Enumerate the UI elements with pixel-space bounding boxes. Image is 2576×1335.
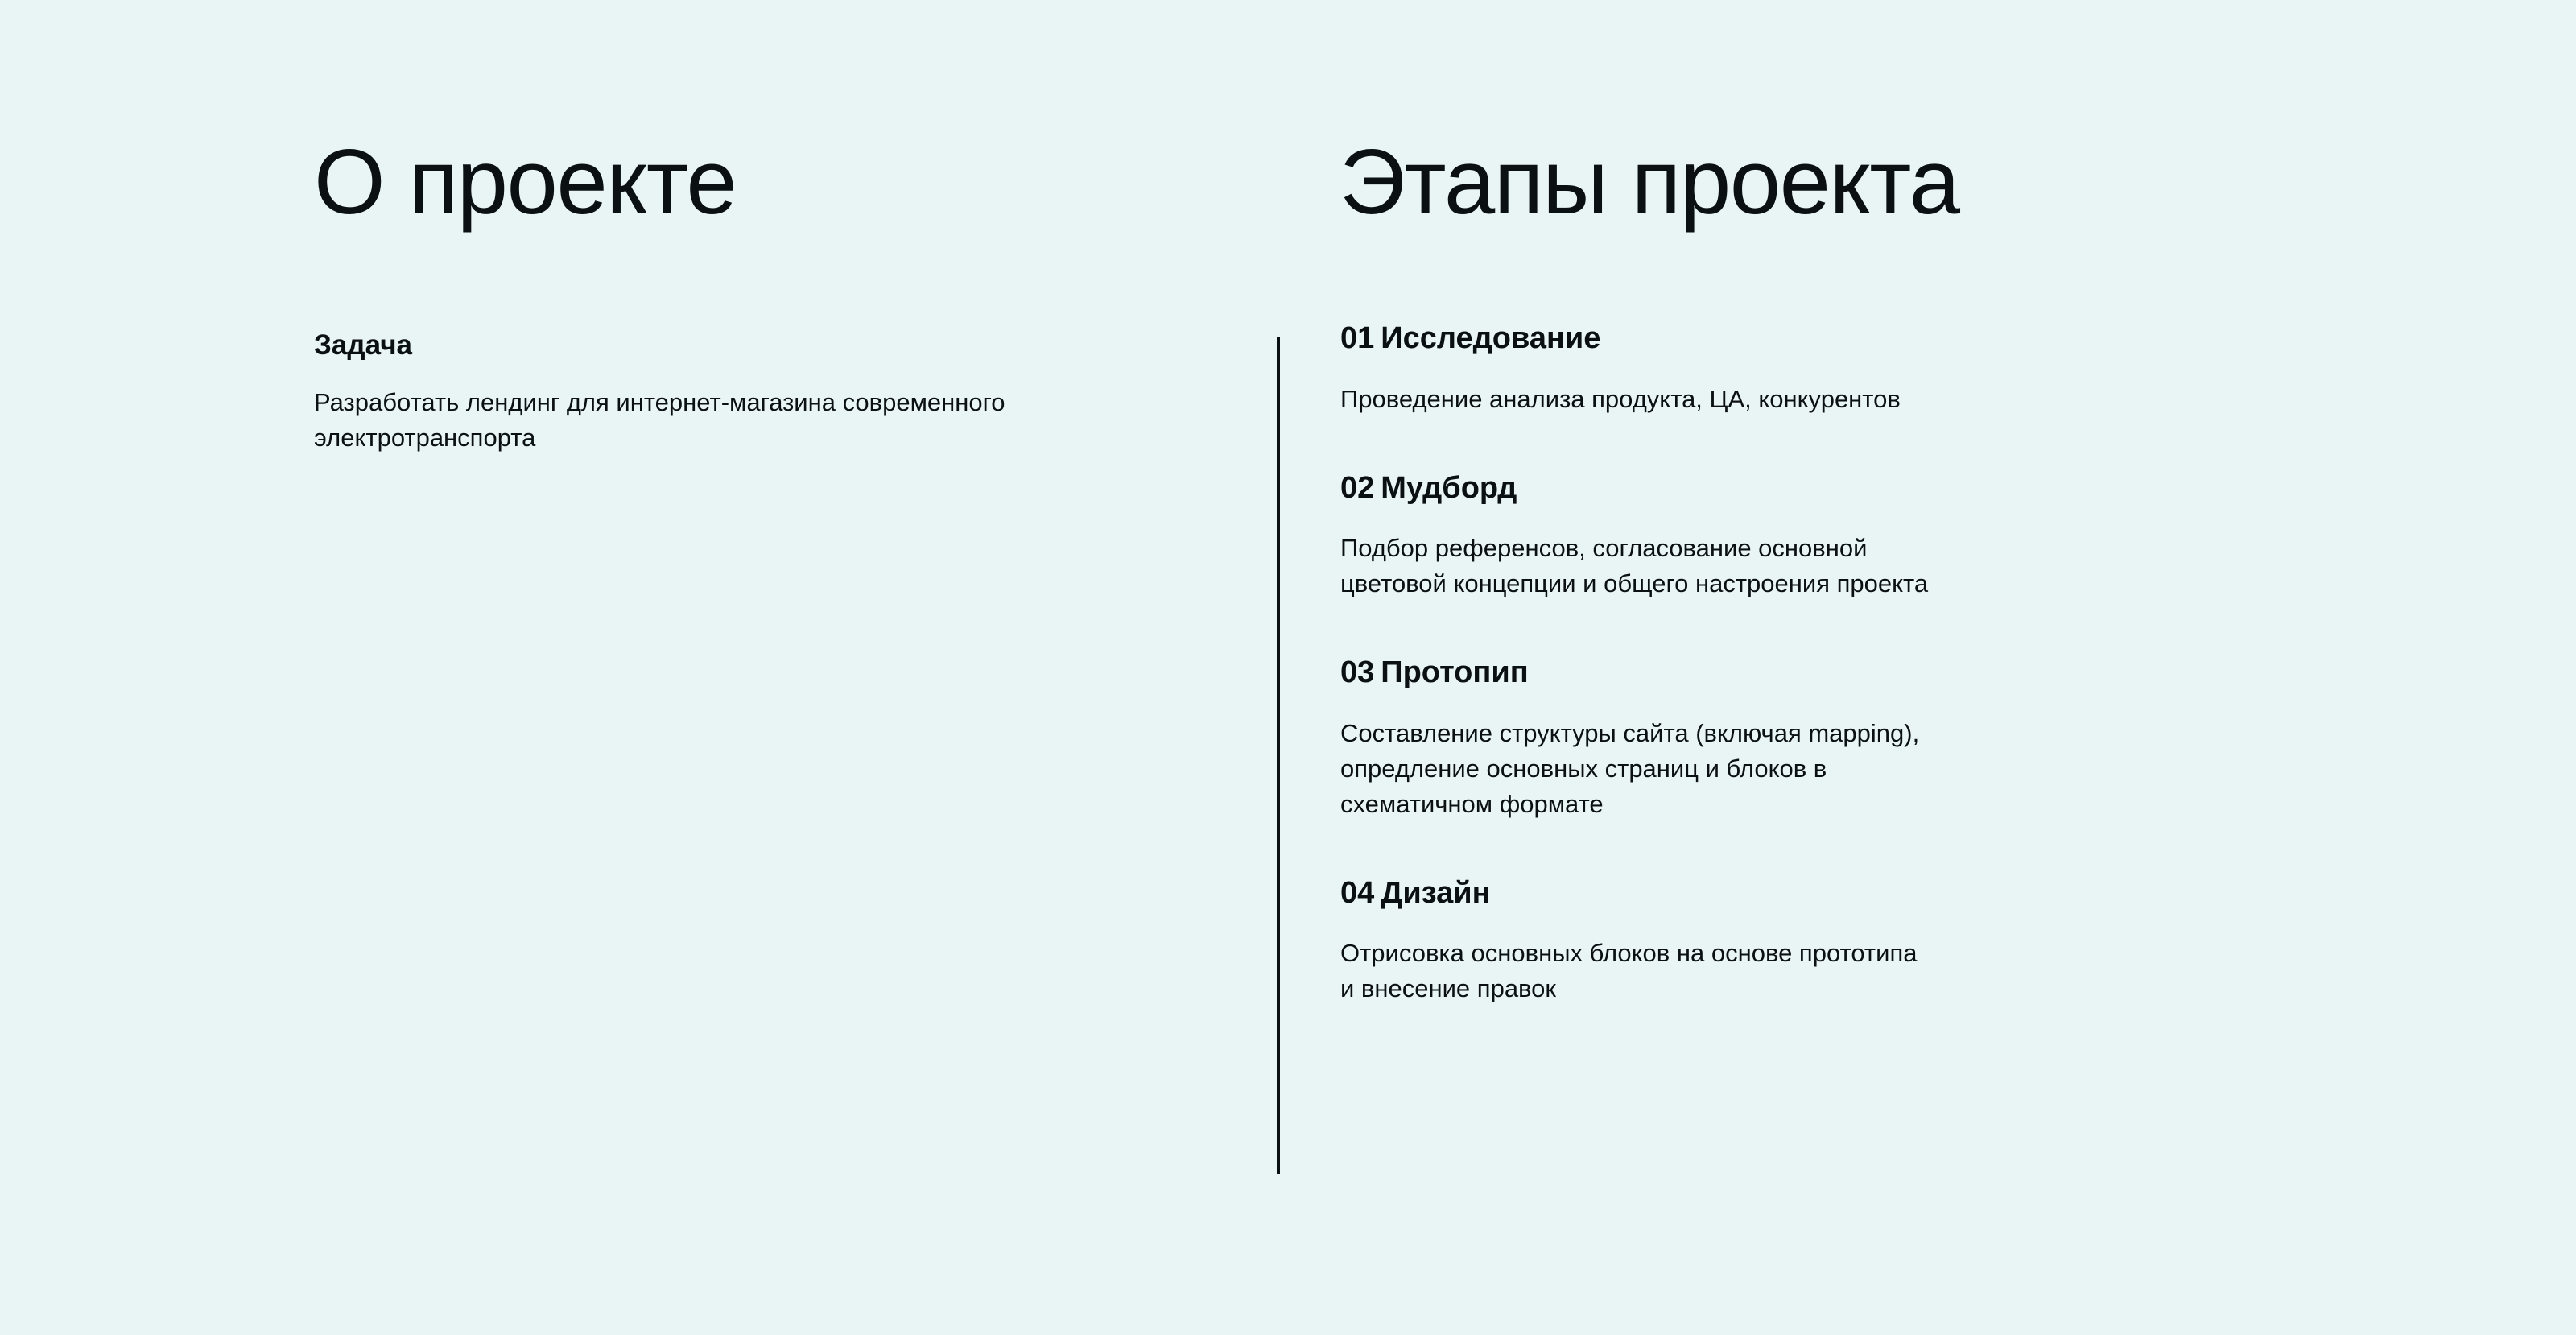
stage-title: Протопип xyxy=(1381,655,1528,689)
stage-number: 03 xyxy=(1340,655,1374,689)
stage-description: Проведение анализа продукта, ЦА, конкуре… xyxy=(1340,382,2210,417)
stage-item: 04Дизайн Отрисовка основных блоков на ос… xyxy=(1340,875,2274,1007)
page-title-about: О проекте xyxy=(314,137,736,229)
stage-number: 01 xyxy=(1340,321,1374,355)
stage-description: Отрисовка основных блоков на основе прот… xyxy=(1340,936,2210,1006)
stage-heading: 03Протопип xyxy=(1340,655,2274,692)
page-title-stages: Этапы проекта xyxy=(1340,137,1959,229)
stage-description: Составление структуры сайта (включая map… xyxy=(1340,716,2210,822)
stage-item: 01Исследование Проведение анализа продук… xyxy=(1340,320,2274,417)
stage-heading: 01Исследование xyxy=(1340,320,2274,358)
stage-item: 02Мудборд Подбор референсов, согласовани… xyxy=(1340,470,2274,602)
task-description: Разработать лендинг для интернет-магазин… xyxy=(314,385,1071,456)
stage-heading: 02Мудборд xyxy=(1340,470,2274,507)
stage-title: Исследование xyxy=(1381,321,1600,355)
stage-item: 03Протопип Составление структуры сайта (… xyxy=(1340,655,2274,822)
stage-number: 02 xyxy=(1340,471,1374,505)
stage-title: Мудборд xyxy=(1381,471,1517,505)
stage-heading: 04Дизайн xyxy=(1340,875,2274,912)
stage-number: 04 xyxy=(1340,876,1374,910)
task-heading: Задача xyxy=(314,329,1119,362)
stages-list: 01Исследование Проведение анализа продук… xyxy=(1340,320,2274,1007)
task-block: Задача Разработать лендинг для интернет-… xyxy=(314,329,1119,456)
stage-title: Дизайн xyxy=(1381,876,1490,910)
stages-vertical-divider xyxy=(1277,337,1280,1174)
stage-description: Подбор референсов, согласование основной… xyxy=(1340,531,2210,601)
slide-canvas: О проекте Задача Разработать лендинг для… xyxy=(0,0,2576,1335)
